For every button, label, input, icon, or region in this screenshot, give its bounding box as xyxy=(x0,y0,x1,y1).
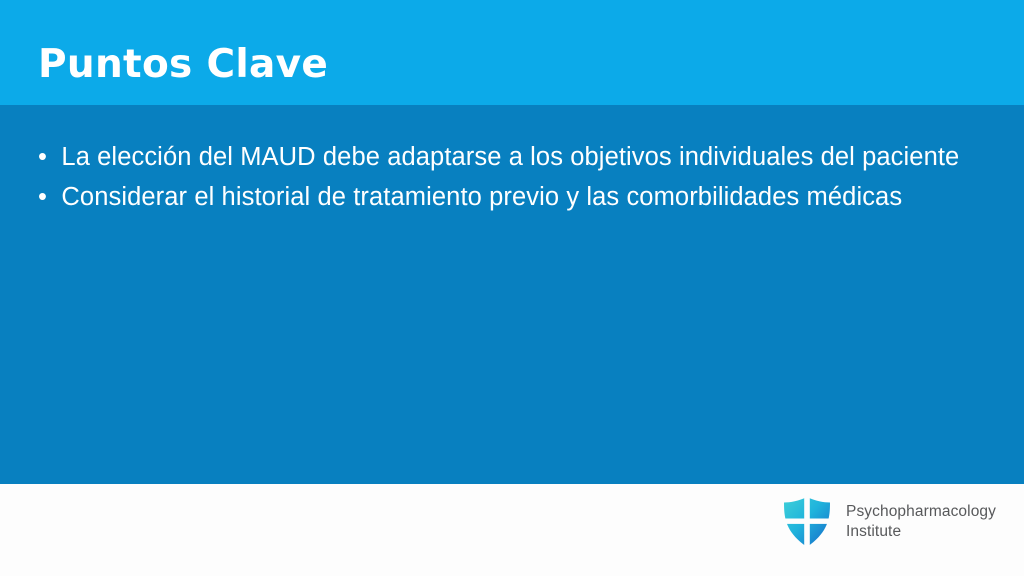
slide-body-band: • La elección del MAUD debe adaptarse a … xyxy=(0,105,1024,484)
list-item-label: Considerar el historial de tratamiento p… xyxy=(61,183,902,211)
list-item-label: La elección del MAUD debe adaptarse a lo… xyxy=(61,143,959,171)
presentation-slide: Puntos Clave • La elección del MAUD debe… xyxy=(0,0,1024,576)
list-item: • La elección del MAUD debe adaptarse a … xyxy=(38,137,982,177)
bullet-list: • La elección del MAUD debe adaptarse a … xyxy=(38,137,982,217)
brand-wordmark: Psychopharmacology Institute xyxy=(846,502,996,542)
bullet-glyph-icon: • xyxy=(38,183,61,211)
bullet-glyph-icon: • xyxy=(38,143,61,171)
slide-header-band: Puntos Clave xyxy=(0,0,1024,105)
shield-cross-logo-icon xyxy=(782,496,832,548)
brand-wordmark-line-1: Psychopharmacology xyxy=(846,502,996,522)
slide-footer-band: Psychopharmacology Institute xyxy=(0,484,1024,576)
page-title: Puntos Clave xyxy=(38,42,328,88)
brand-logo-lockup: Psychopharmacology Institute xyxy=(782,496,996,548)
brand-wordmark-line-2: Institute xyxy=(846,522,996,542)
list-item: • Considerar el historial de tratamiento… xyxy=(38,177,982,217)
